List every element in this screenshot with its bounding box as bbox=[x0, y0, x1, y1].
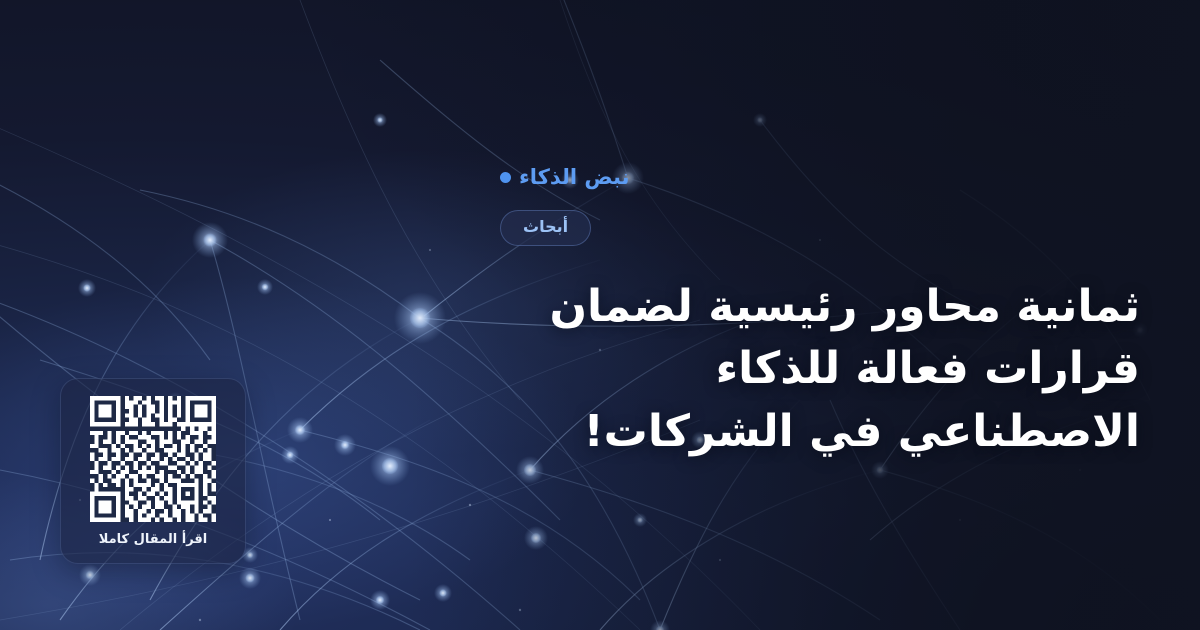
content-column: نبض الذكاء أبحاث ثمانية محاور رئيسية لضم… bbox=[500, 0, 1200, 630]
qr-card-caption: اقرأ المقال كاملا bbox=[99, 533, 208, 546]
page-title: ثمانية محاور رئيسية لضمان قرارات فعالة ل… bbox=[500, 276, 1140, 463]
category-badge[interactable]: أبحاث bbox=[500, 210, 591, 246]
qr-code-icon bbox=[90, 396, 216, 522]
bullet-dot-icon bbox=[500, 172, 511, 183]
brand[interactable]: نبض الذكاء bbox=[500, 167, 629, 188]
brand-name: نبض الذكاء bbox=[519, 167, 629, 188]
qr-card[interactable]: اقرأ المقال كاملا bbox=[60, 378, 246, 564]
og-card: اقرأ المقال كاملا نبض الذكاء أبحاث ثماني… bbox=[0, 0, 1200, 630]
